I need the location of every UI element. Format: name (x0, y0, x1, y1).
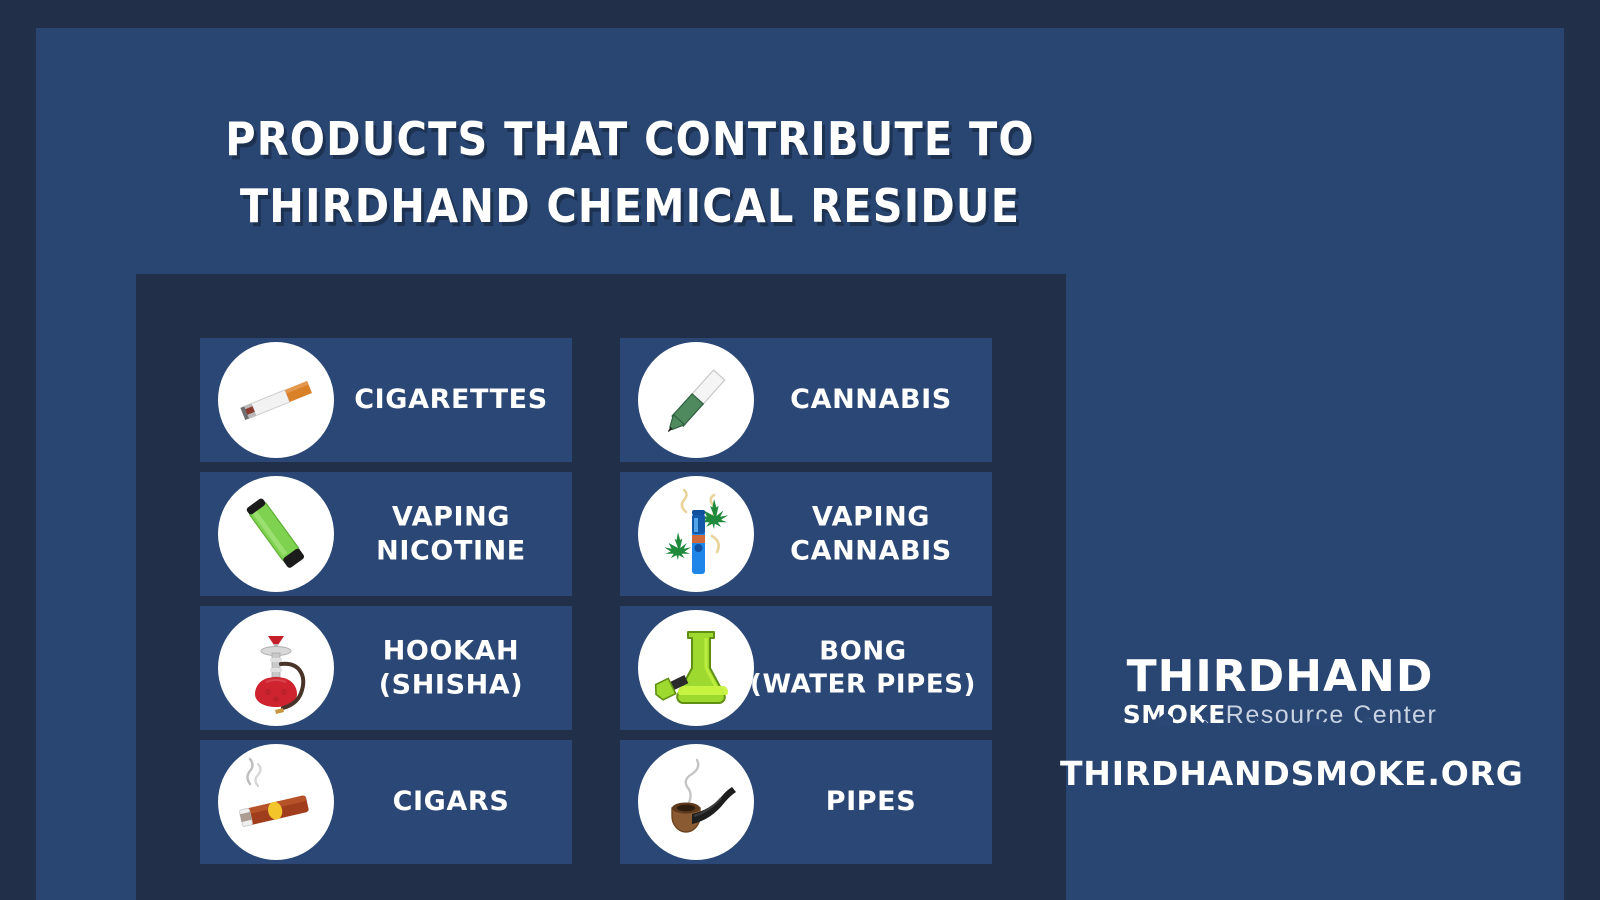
product-label-line-1: BONG (819, 637, 906, 667)
stage-background: PRODUCTS THAT CONTRIBUTE TO THIRDHAND CH… (36, 28, 1564, 900)
product-label-line-2: (WATER PIPES) (738, 668, 988, 701)
product-label-line-1: CANNABIS (790, 384, 952, 415)
product-label-line-2: NICOTINE (334, 534, 568, 568)
product-card-cannabis[interactable]: CANNABIS (620, 338, 992, 462)
product-label-line-1: HOOKAH (383, 635, 520, 666)
logo-resource-center: Resource Center (1226, 701, 1437, 729)
product-label-line-2: CANNABIS (754, 534, 988, 568)
product-card-bong[interactable]: BONG (WATER PIPES) (620, 606, 992, 730)
cigarette-icon (218, 342, 334, 458)
product-card-label: PIPES (754, 785, 988, 819)
product-card-hookah[interactable]: HOOKAH (SHISHA) (200, 606, 572, 730)
product-card-label: CIGARS (334, 785, 568, 819)
product-card-label: VAPING CANNABIS (754, 500, 988, 568)
product-card-label: HOOKAH (SHISHA) (334, 634, 568, 702)
infographic-root: PRODUCTS THAT CONTRIBUTE TO THIRDHAND CH… (0, 0, 1600, 900)
branding-block: THIRDHAND SMOKEResource Center THIRDHAND… (1060, 655, 1500, 793)
product-label-line-1: VAPING (812, 501, 930, 532)
product-card-label: CIGARETTES (334, 383, 568, 417)
page-title-line-1: PRODUCTS THAT CONTRIBUTE TO (190, 106, 1070, 173)
product-card-grid: CIGARETTES CANNABIS (200, 338, 992, 864)
product-label-line-1: VAPING (392, 501, 510, 532)
product-label-line-2: (SHISHA) (334, 668, 568, 702)
logo-subtitle: SMOKEResource Center (1123, 702, 1438, 728)
cannabis-vape-pen-icon (638, 476, 754, 592)
product-card-label: VAPING NICOTINE (334, 500, 568, 568)
product-label-line-1: CIGARS (393, 786, 510, 817)
bong-icon (638, 610, 754, 726)
product-card-vaping-cannabis[interactable]: VAPING CANNABIS (620, 472, 992, 596)
cigar-icon (218, 744, 334, 860)
product-label-line-1: PIPES (826, 786, 917, 817)
product-card-pipes[interactable]: PIPES (620, 740, 992, 864)
product-card-vaping-nicotine[interactable]: VAPING NICOTINE (200, 472, 572, 596)
page-title-line-2: THIRDHAND CHEMICAL RESIDUE (190, 173, 1070, 240)
website-url[interactable]: THIRDHANDSMOKE.ORG (1060, 754, 1500, 793)
hookah-icon (218, 610, 334, 726)
vape-pen-icon (218, 476, 334, 592)
logo-wordmark-smoke: SMOKE (1123, 700, 1226, 729)
logo-wordmark-thirdhand: THIRDHAND (1123, 655, 1438, 699)
product-card-cigars[interactable]: CIGARS (200, 740, 572, 864)
product-card-label: CANNABIS (754, 383, 988, 417)
page-title: PRODUCTS THAT CONTRIBUTE TO THIRDHAND CH… (190, 106, 1070, 239)
thirdhand-smoke-logo[interactable]: THIRDHAND SMOKEResource Center (1123, 655, 1438, 728)
product-label-line-1: CIGARETTES (354, 384, 548, 415)
cannabis-joint-icon (638, 342, 754, 458)
product-card-cigarettes[interactable]: CIGARETTES (200, 338, 572, 462)
product-card-label: BONG (WATER PIPES) (738, 636, 988, 701)
tobacco-pipe-icon (638, 744, 754, 860)
